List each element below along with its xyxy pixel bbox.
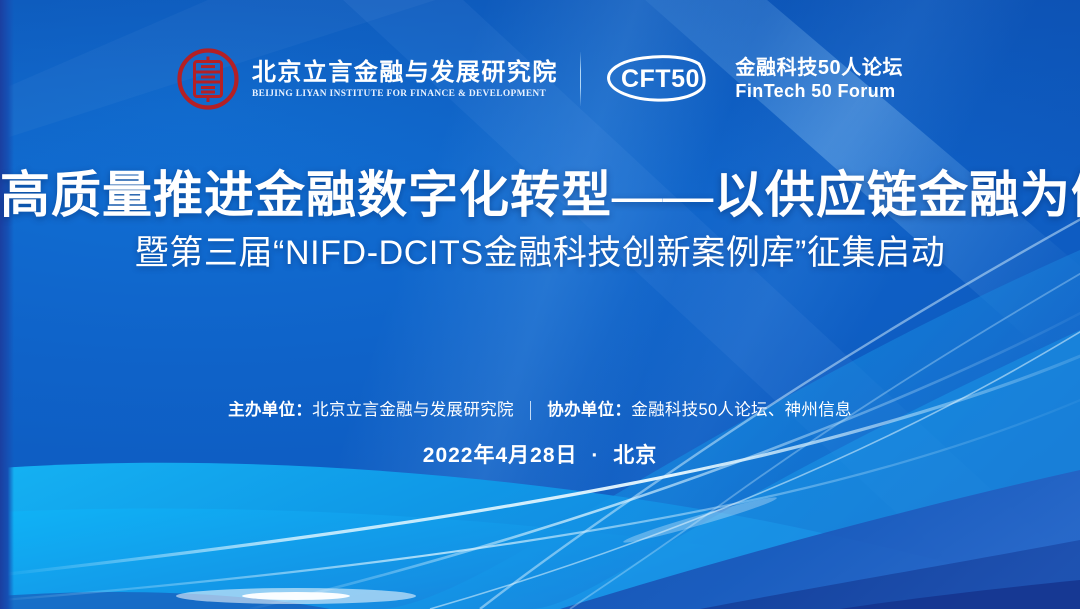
- cft50-name-cn: 金融科技50人论坛: [735, 57, 903, 79]
- host-organizer-label: 主办单位：: [228, 401, 312, 419]
- liyan-institute-logo: 北京立言金融与发展研究院 BEIJING LIYAN INSTITUTE FOR…: [177, 48, 558, 110]
- date-location-row: 2022年4月28日 · 北京: [0, 441, 1080, 471]
- cft50-logo: CFT50 金融科技50人论坛 FinTech 50 Forum: [603, 54, 903, 104]
- organizer-row: 主办单位：北京立言金融与发展研究院 协办单位：金融科技50人论坛、神州信息: [0, 398, 1080, 422]
- liyan-name-group: 北京立言金融与发展研究院 BEIJING LIYAN INSTITUTE FOR…: [252, 60, 558, 98]
- liyan-name-cn: 北京立言金融与发展研究院: [252, 60, 558, 86]
- cft50-name-en: FinTech 50 Forum: [735, 81, 903, 101]
- host-organizer: 主办单位：北京立言金融与发展研究院: [228, 398, 514, 422]
- conference-poster: 北京立言金融与发展研究院 BEIJING LIYAN INSTITUTE FOR…: [0, 0, 1080, 609]
- co-organizer: 协办单位：金融科技50人论坛、神州信息: [547, 398, 852, 422]
- poster-header: 北京立言金融与发展研究院 BEIJING LIYAN INSTITUTE FOR…: [0, 48, 1080, 110]
- liyan-name-en: BEIJING LIYAN INSTITUTE FOR FINANCE & DE…: [252, 88, 564, 98]
- seal-stamp-icon: [177, 48, 239, 110]
- host-organizer-value: 北京立言金融与发展研究院: [312, 401, 514, 419]
- cft50-mark-icon: CFT50: [603, 54, 721, 104]
- cft50-name-group: 金融科技50人论坛 FinTech 50 Forum: [735, 57, 903, 101]
- co-organizer-value: 金融科技50人论坛、神州信息: [631, 401, 852, 419]
- organizer-separator: [530, 401, 532, 420]
- event-location: 北京: [613, 444, 657, 467]
- event-date: 2022年4月28日: [423, 444, 578, 467]
- sub-title: 暨第三届“NIFD-DCITS金融科技创新案例库”征集启动: [0, 232, 1080, 274]
- logo-divider: [580, 52, 582, 106]
- main-title: 高质量推进金融数字化转型——以供应链金融为例: [0, 166, 1080, 224]
- cft50-mark-text: CFT50: [603, 54, 721, 104]
- co-organizer-label: 协办单位：: [547, 401, 631, 419]
- date-location-dot: ·: [584, 444, 606, 467]
- title-section: 高质量推进金融数字化转型——以供应链金融为例 暨第三届“NIFD-DCITS金融…: [0, 166, 1080, 274]
